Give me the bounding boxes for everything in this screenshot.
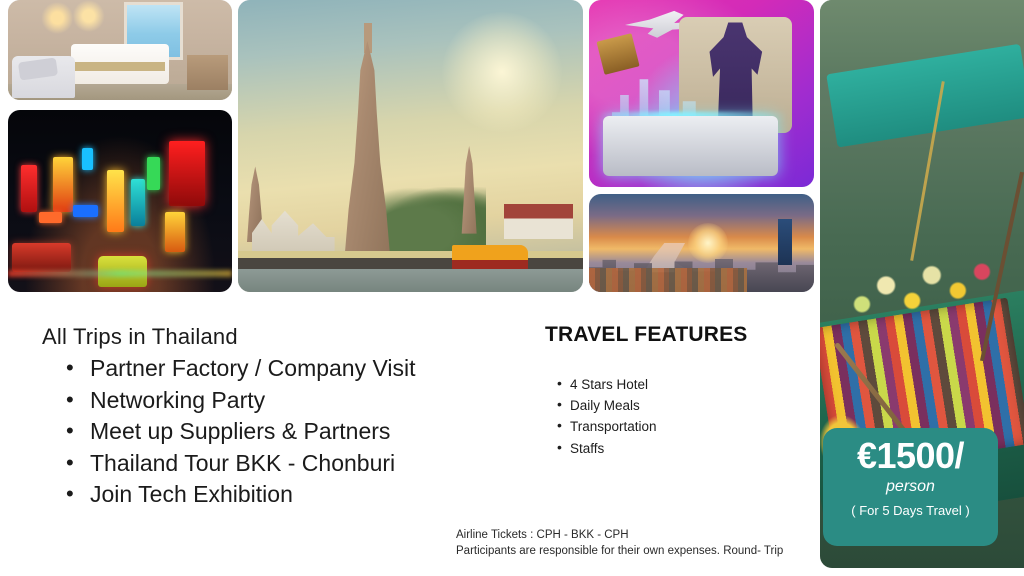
hotel-desk-shape	[187, 55, 227, 90]
temple-pavilions-shape	[252, 204, 335, 257]
fineprint-line-1: Airline Tickets : CPH - BKK - CPH	[456, 528, 783, 544]
list-item: Thailand Tour BKK - Chonburi	[62, 448, 416, 480]
trips-heading: All Trips in Thailand	[42, 324, 238, 350]
chinatown-photo-inner	[8, 110, 232, 292]
riverside-houses-shape	[589, 268, 747, 292]
presentation-slide: €1500/ person ( For 5 Days Travel ) All …	[0, 0, 1024, 576]
suitcase-base-shape	[603, 116, 779, 176]
bangkok-skyline-photo	[589, 194, 814, 292]
temple-photo-inner	[238, 0, 583, 292]
price-badge: €1500/ person ( For 5 Days Travel )	[823, 428, 998, 546]
neon-sign-shape	[73, 205, 98, 218]
neon-sign-shape	[131, 179, 144, 226]
features-list: 4 Stars Hotel Daily Meals Transportation…	[556, 374, 657, 459]
fineprint-line-2: Participants are responsible for their o…	[456, 544, 783, 560]
fineprint: Airline Tickets : CPH - BKK - CPH Partic…	[456, 528, 783, 559]
sun-shape	[688, 223, 728, 263]
neon-sign-shape	[39, 212, 61, 223]
river-boat-shape	[452, 245, 528, 271]
tall-tower-shape	[778, 219, 792, 264]
features-heading: TRAVEL FEATURES	[545, 323, 748, 347]
list-item: Networking Party	[62, 385, 416, 417]
list-item: Transportation	[556, 416, 657, 437]
neon-sign-shape	[82, 148, 93, 170]
price-note: ( For 5 Days Travel )	[823, 499, 998, 524]
sunset-glow-shape	[442, 12, 562, 132]
list-item: Staffs	[556, 438, 657, 459]
neon-sign-shape	[165, 212, 185, 252]
river-water-shape	[238, 269, 583, 292]
neon-sign-shape	[21, 165, 37, 212]
passport-shape	[597, 34, 640, 75]
chinatown-street-photo	[8, 110, 232, 292]
neon-sign-shape	[147, 157, 160, 190]
light-streak-shape	[8, 270, 232, 277]
temple-roof-shape	[504, 204, 573, 239]
street-bus-shape	[12, 243, 70, 272]
price-unit: person	[823, 475, 998, 499]
list-item: 4 Stars Hotel	[556, 374, 657, 395]
neon-sign-shape	[169, 141, 205, 207]
list-item: Partner Factory / Company Visit	[62, 353, 416, 385]
list-item: Daily Meals	[556, 395, 657, 416]
list-item: Meet up Suppliers & Partners	[62, 416, 416, 448]
hotel-room-photo	[8, 0, 232, 100]
neon-sign-shape	[53, 157, 73, 212]
list-item: Join Tech Exhibition	[62, 479, 416, 511]
hotel-room-photo-inner	[8, 0, 232, 100]
hotel-bed-runner-shape	[75, 62, 165, 71]
price-amount: €1500/	[823, 437, 998, 475]
wat-arun-temple-photo	[238, 0, 583, 292]
ai-travel-photo-inner	[589, 0, 814, 187]
neon-sign-shape	[107, 170, 125, 232]
trips-list: Partner Factory / Company Visit Networki…	[62, 353, 416, 511]
river-pier-shape	[238, 251, 583, 269]
ai-travel-suitcase-photo	[589, 0, 814, 187]
skyline-photo-inner	[589, 194, 814, 292]
